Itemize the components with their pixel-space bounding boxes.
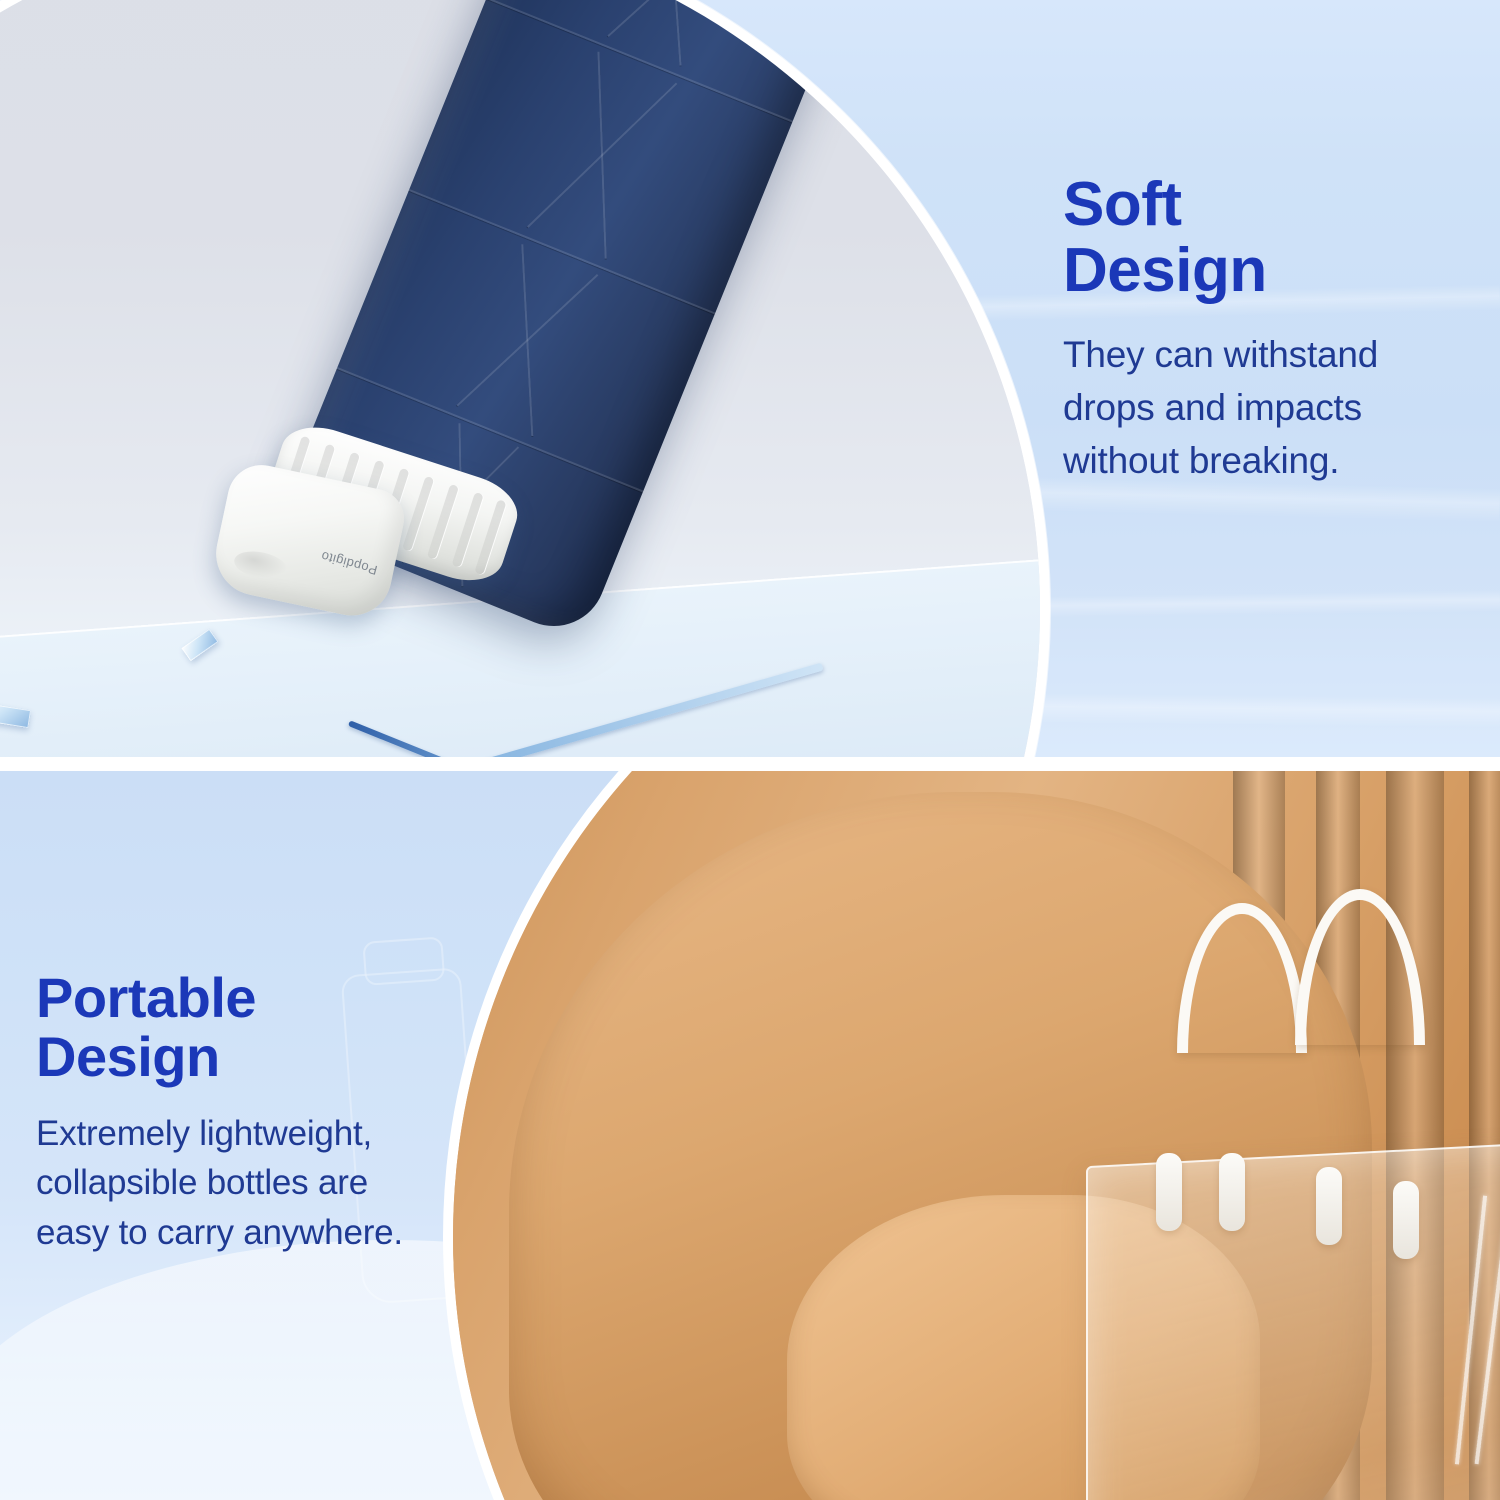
soft-design-copy: Soft Design They can withstand drops and… (1063, 172, 1483, 487)
headline-line-1: Soft (1063, 170, 1182, 239)
bag-strap-tab (1219, 1153, 1245, 1231)
headline-line-2: Design (1063, 236, 1267, 305)
portable-design-headline: Portable Design (36, 968, 456, 1087)
body-line-2: collapsible bottles are (36, 1163, 368, 1202)
bag-strap-tab (1316, 1167, 1342, 1245)
body-line-1: They can withstand (1063, 334, 1378, 375)
bag-strap-tab (1156, 1153, 1182, 1231)
body-line-2: drops and impacts (1063, 387, 1362, 428)
portable-design-photo: Popdigito Popdigito iPhone (443, 771, 1500, 1500)
portable-design-copy: Portable Design Extremely lightweight, c… (36, 968, 456, 1258)
body-line-3: without breaking. (1063, 440, 1339, 481)
body-line-3: easy to carry anywhere. (36, 1213, 403, 1252)
cap-brand-logo: Popdigito (319, 549, 379, 578)
soft-design-photo: Popdigito (0, 0, 1050, 757)
cap-grip-texture (232, 547, 290, 584)
panel-soft-design: Popdigito Soft Design They can withstand… (0, 0, 1500, 757)
portable-design-body: Extremely lightweight, collapsible bottl… (36, 1109, 456, 1258)
headline-line-1: Portable (36, 966, 256, 1029)
soft-design-body: They can withstand drops and impacts wit… (1063, 329, 1483, 487)
panel-divider (0, 757, 1500, 771)
panel-portable-design: Popdigito Popdigito iPhone (0, 771, 1500, 1500)
body-line-1: Extremely lightweight, (36, 1114, 372, 1153)
bag-strap-tab (1393, 1181, 1419, 1259)
headline-line-2: Design (36, 1025, 220, 1088)
soft-design-headline: Soft Design (1063, 172, 1483, 303)
clear-tote-bag (1086, 1140, 1500, 1500)
product-feature-image: Popdigito Soft Design They can withstand… (0, 0, 1500, 1500)
